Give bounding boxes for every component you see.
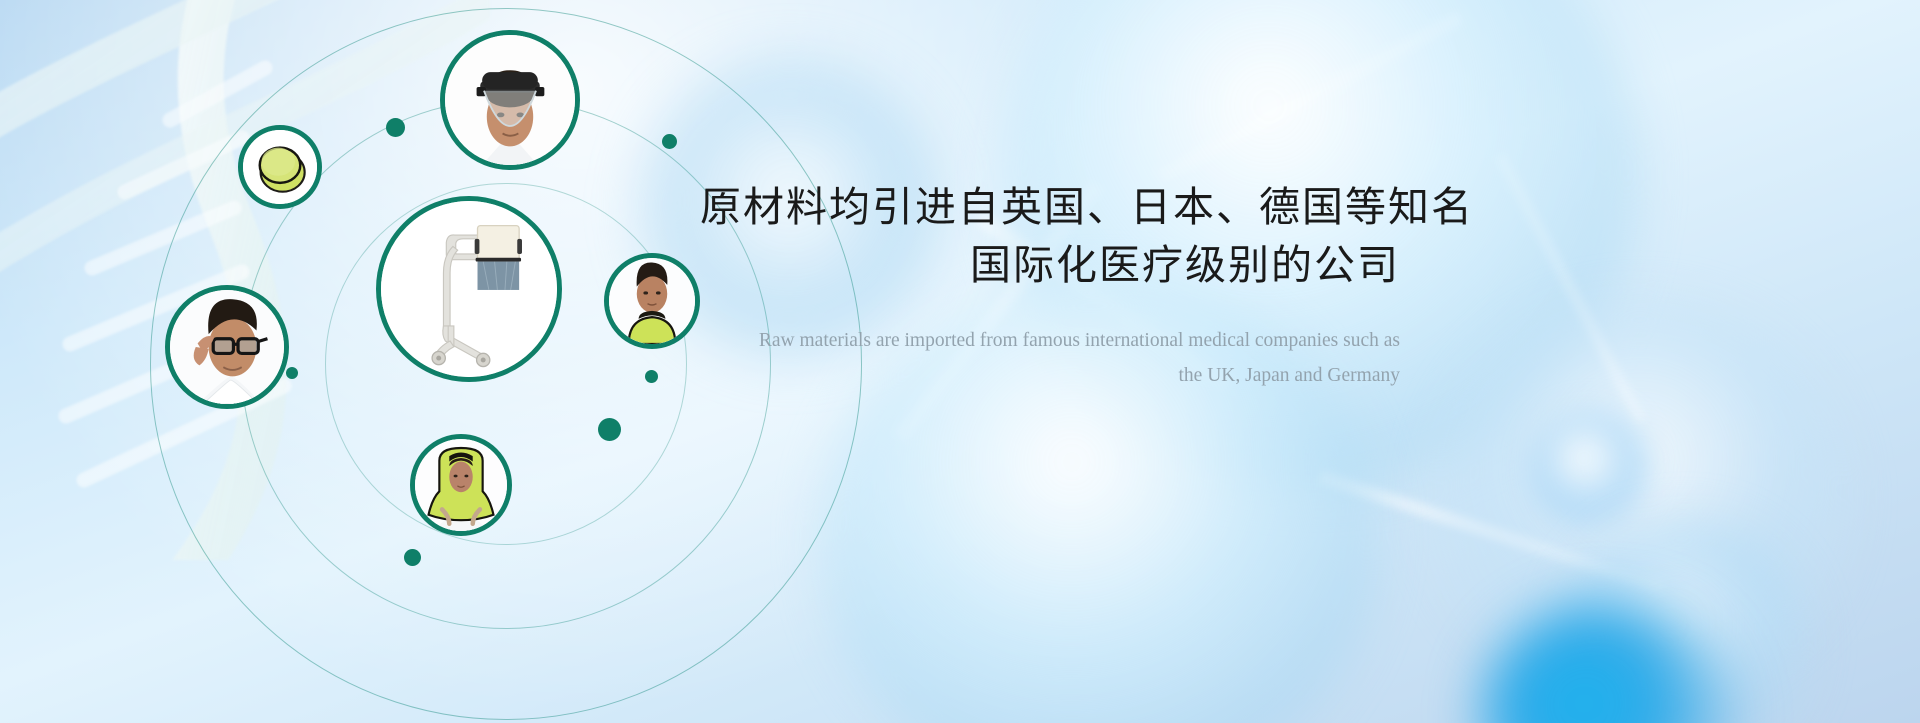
- subtitle-line-2: the UK, Japan and Germany: [700, 359, 1400, 393]
- face-shield-photo: [445, 35, 575, 165]
- orbit-dot-upper-right: [662, 134, 677, 149]
- thyroid-collar-photo: [609, 258, 695, 344]
- radiation-protective-hood-portrait[interactable]: [410, 434, 512, 536]
- molecule-sphere: [1430, 300, 1850, 700]
- lead-cap-photo: [243, 130, 317, 204]
- radiation-protective-glasses-portrait[interactable]: [165, 285, 289, 409]
- molecule-bond: [1318, 470, 1664, 594]
- orbit-dot-right-large: [598, 418, 621, 441]
- protective-glasses-photo: [170, 290, 284, 404]
- lead-protective-cap[interactable]: [238, 125, 322, 209]
- headline-line-2: 国际化医疗级别的公司: [700, 236, 1400, 294]
- radiation-face-shield-portrait[interactable]: [440, 30, 580, 170]
- subtitle-line-1: Raw materials are imported from famous i…: [700, 324, 1400, 358]
- orbit-dot-top: [386, 118, 405, 137]
- molecule-bond: [1157, 11, 1464, 183]
- promo-banner: 原材料均引进自英国、日本、德国等知名 国际化医疗级别的公司 Raw materi…: [0, 0, 1920, 723]
- mobile-x-ray-protective-screen[interactable]: [376, 196, 562, 382]
- molecule-bond: [1495, 153, 1646, 424]
- protective-hood-photo: [415, 439, 507, 531]
- orbit-dot-right: [645, 370, 658, 383]
- x-ray-screen-photo: [381, 201, 557, 377]
- banner-copy: 原材料均引进自英国、日本、德国等知名 国际化医疗级别的公司 Raw materi…: [700, 178, 1400, 393]
- orbit-dot-bottom: [404, 549, 421, 566]
- headline-line-1: 原材料均引进自英国、日本、德国等知名: [700, 178, 1400, 236]
- molecule-sphere: [1530, 410, 1650, 530]
- thyroid-collar-portrait[interactable]: [604, 253, 700, 349]
- orbit-dot-left: [286, 367, 298, 379]
- molecule-sphere: [1560, 520, 1810, 723]
- molecule-sphere-accent: [1480, 600, 1740, 723]
